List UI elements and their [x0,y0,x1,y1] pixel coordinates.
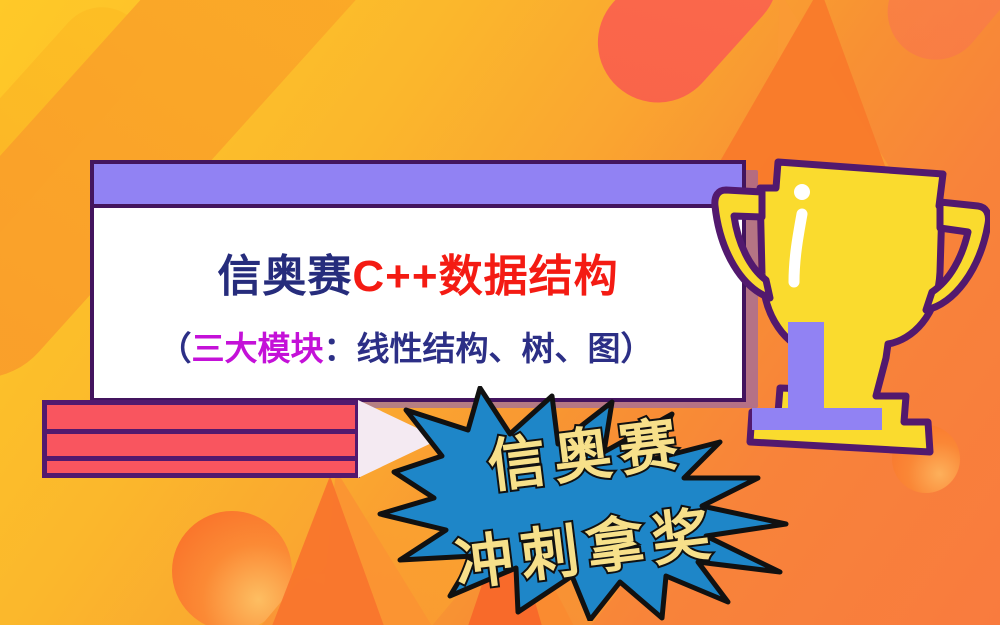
pencil-body [42,400,360,478]
decor-pyramid [272,476,384,625]
subtitle-open-paren: （ [159,330,192,367]
pencil-stripe [47,456,365,461]
starburst-shape [376,386,796,621]
subtitle-part-magenta: 三大模块 [192,330,324,367]
pencil-stripe [47,429,365,434]
page-title: 信奥赛C++数据结构 [90,240,746,304]
subtitle-part-navy: ：线性结构、树、图 [324,330,621,367]
page-subtitle: （三大模块：线性结构、树、图） [78,322,734,370]
poster-canvas: 信奥赛C++数据结构 （三大模块：线性结构、树、图） [0,0,1000,625]
card-header-bar [90,160,746,208]
title-part-navy: 信奥赛 [217,252,352,301]
starburst-svg [376,386,796,621]
subtitle-close-paren: ） [621,330,654,367]
title-part-red: C++数据结构 [352,252,618,301]
